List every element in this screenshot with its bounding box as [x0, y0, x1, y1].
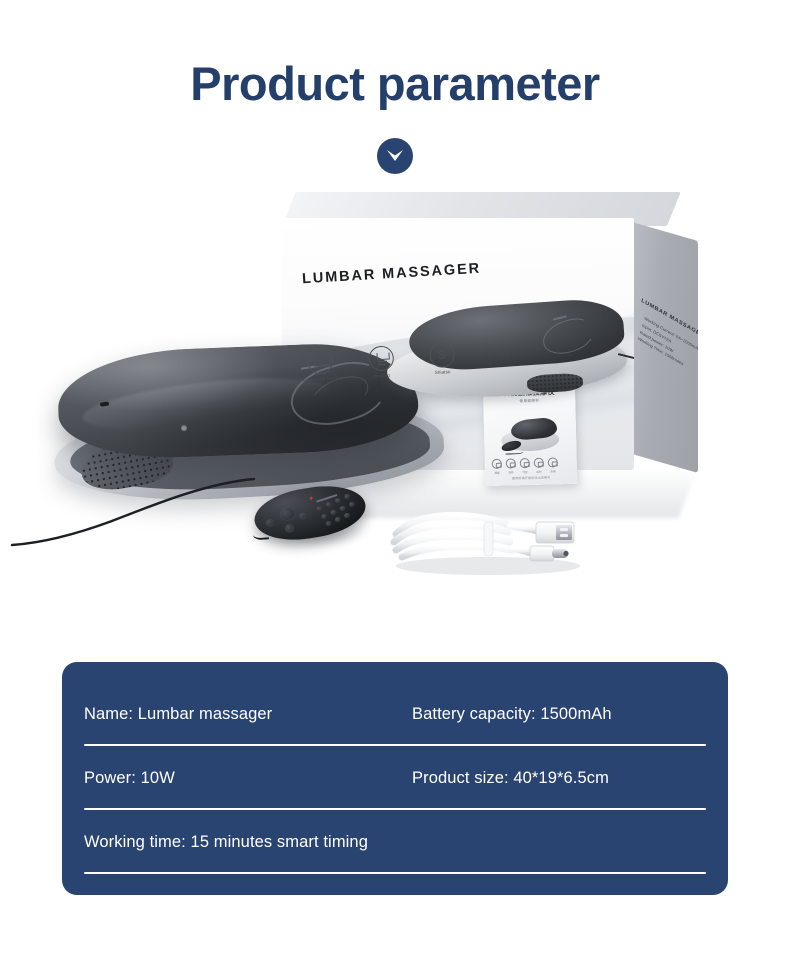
manual-feature-icon: 加热: [506, 458, 516, 468]
box-side-specs: Working Current: 2A~2000mA Input: DC5V=2…: [637, 314, 698, 372]
manual-feature-icon: 气压: [520, 458, 530, 468]
spec-name-label: Name: Lumbar massager: [84, 705, 412, 724]
remote-button[interactable]: [266, 518, 275, 526]
product-photo-scene: LUMBAR MASSAGER Working Current: 2A~2000…: [0, 192, 790, 612]
manual-icon-label: 揉捏: [493, 470, 501, 474]
remote-led-indicator: [309, 496, 312, 499]
manual-icon-row: 揉捏 加热 气压 定时 充电: [492, 457, 558, 469]
spec-power-label: Power: 10W: [84, 769, 412, 788]
usb-charging-cable: [388, 504, 598, 580]
box-photo-vent: [527, 372, 584, 393]
page-title: Product parameter: [0, 58, 790, 110]
remote-keypad-key[interactable]: [344, 493, 351, 500]
feature-badge-shiatsu: Shiatsu: [415, 341, 469, 377]
remote-keypad-key[interactable]: [325, 501, 332, 508]
spec-row: Working time: 15 minutes smart timing: [84, 810, 706, 874]
manual-feature-icon: 揉捏: [492, 458, 502, 468]
remote-keypad-key[interactable]: [348, 501, 355, 508]
box-photo-swirl: [538, 312, 598, 360]
manual-icon-label: 气压: [521, 470, 529, 474]
remote-keypad-key[interactable]: [330, 509, 337, 516]
chevron-down-glyph: [385, 148, 405, 164]
box-side-face: LUMBAR MASSAGER Working Current: 2A~2000…: [632, 222, 698, 473]
spec-battery-label: Battery capacity: 1500mAh: [412, 705, 706, 724]
usb-cable-drawing: [388, 504, 598, 580]
air-pressure-icon: [307, 348, 333, 374]
manual-icon-label: 加热: [507, 470, 515, 474]
spec-size-label: Product size: 40*19*6.5cm: [412, 769, 706, 788]
remote-control: [254, 488, 370, 552]
device-power-cable: [8, 477, 268, 553]
remote-keypad-key[interactable]: [316, 505, 323, 512]
remote-power-button[interactable]: [279, 506, 296, 521]
manual-product-photo: [499, 412, 562, 454]
remote-keypad-key[interactable]: [343, 512, 350, 519]
spec-row: Power: 10W Product size: 40*19*6.5cm: [84, 746, 706, 810]
feature-badge-air-pressure: Air pressure traction: [293, 348, 347, 384]
manual-footer: 使用前请仔细阅读本说明书: [485, 475, 577, 481]
remote-keypad-key[interactable]: [321, 513, 328, 520]
remote-keypad-key[interactable]: [334, 516, 341, 523]
spec-table: Name: Lumbar massager Battery capacity: …: [84, 662, 706, 874]
remote-button[interactable]: [299, 512, 307, 519]
manual-feature-icon: 定时: [534, 457, 544, 467]
manual-icon-label: 定时: [535, 469, 543, 473]
remote-button[interactable]: [285, 523, 295, 532]
chevron-down-icon[interactable]: [377, 138, 413, 174]
spec-row: Name: Lumbar massager Battery capacity: …: [84, 682, 706, 746]
page-header: Product parameter: [0, 0, 790, 174]
box-photo-cord: [613, 353, 634, 385]
remote-keypad-key[interactable]: [325, 520, 332, 527]
manual-icon-label: 充电: [549, 469, 557, 473]
feature-badge-heating: Heating: [354, 344, 408, 380]
product-spec-card: Name: Lumbar massager Battery capacity: …: [62, 662, 728, 895]
box-brand-text: LUMBAR MASSAGER: [302, 260, 482, 287]
device-indicator-led: [181, 425, 187, 431]
remote-cable-stub: [252, 529, 269, 540]
shiatsu-icon: [429, 342, 455, 368]
heating-icon: [368, 345, 394, 371]
manual-feature-icon: 充电: [548, 457, 558, 467]
spec-working-time-label: Working time: 15 minutes smart timing: [84, 833, 412, 852]
remote-keypad-key[interactable]: [334, 497, 341, 504]
device-cable-path: [8, 477, 268, 553]
remote-keypad-key[interactable]: [339, 505, 346, 512]
